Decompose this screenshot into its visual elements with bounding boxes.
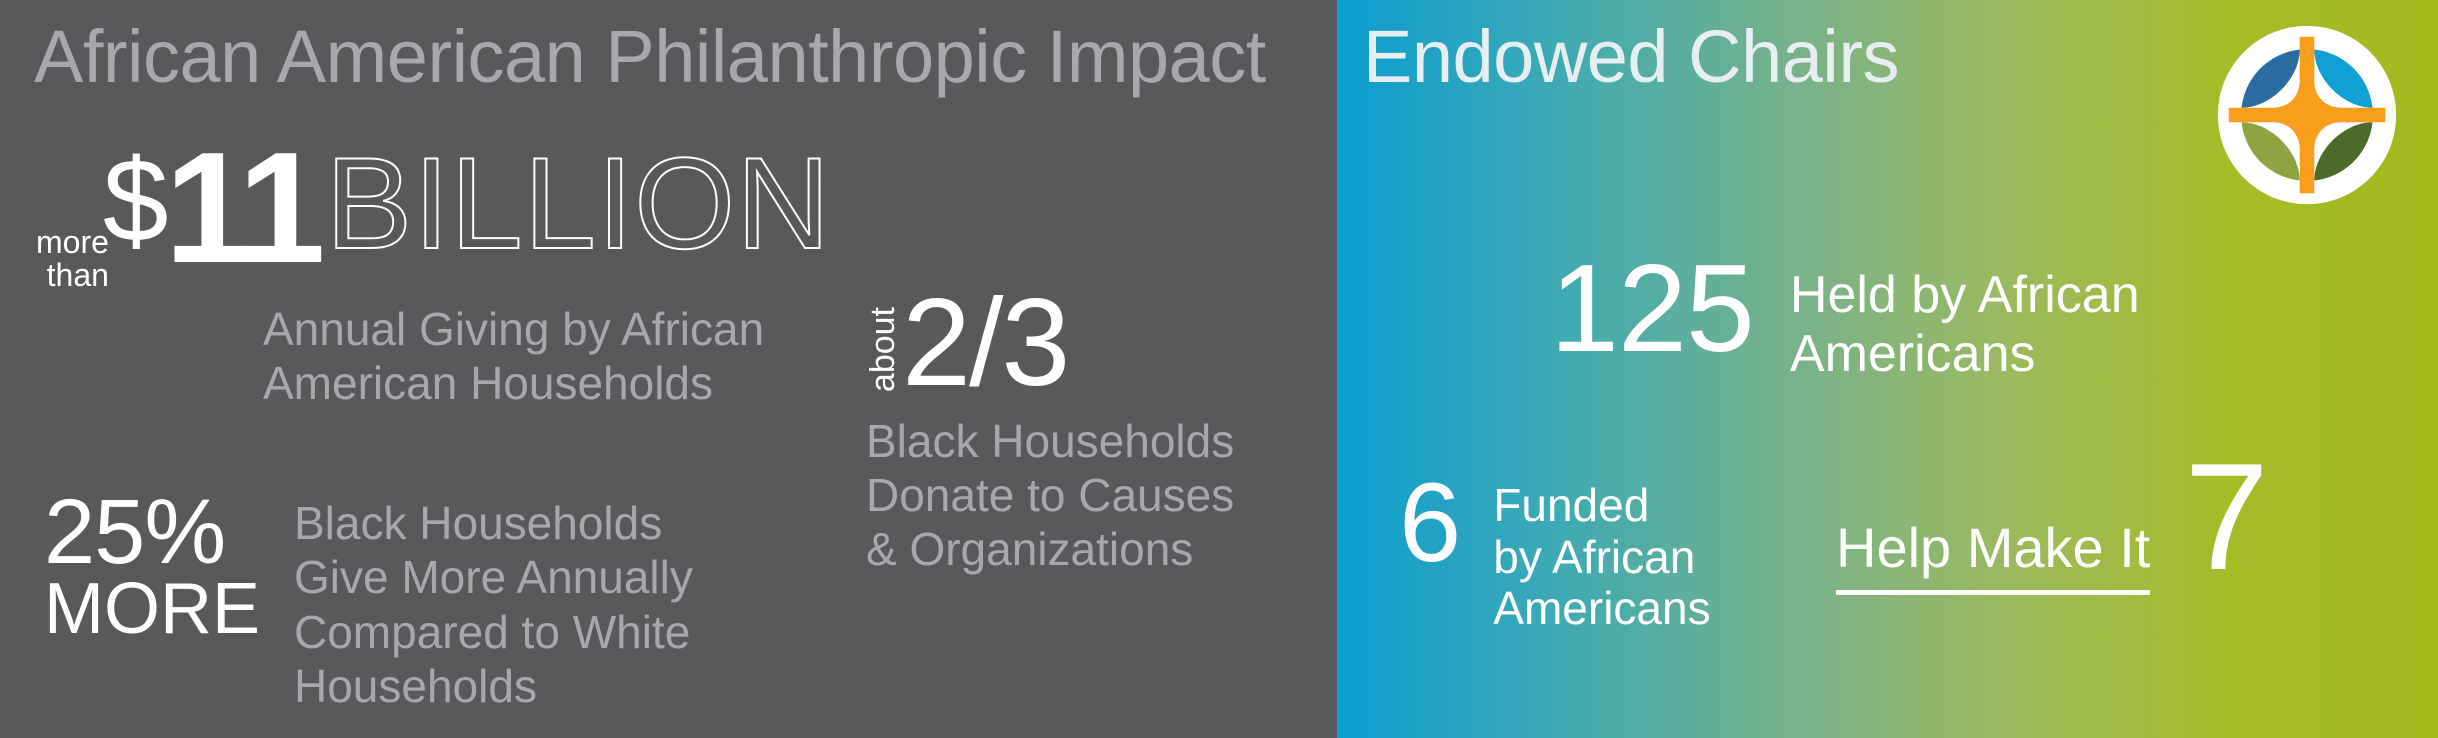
fraction-qualifier: about bbox=[866, 307, 900, 392]
right-panel-title: Endowed Chairs bbox=[1363, 14, 1899, 99]
percent-value-group: 25% MORE bbox=[44, 490, 260, 643]
billion-number: 11 bbox=[165, 144, 320, 274]
billion-description-line-1: Annual Giving by African bbox=[263, 302, 764, 356]
more-than-label: more than bbox=[36, 152, 109, 291]
percent-description: Black Households Give More Annually Comp… bbox=[294, 490, 693, 713]
stat-billion: more than $ 11 BILLION bbox=[36, 152, 831, 291]
than-label: than bbox=[36, 259, 109, 292]
funded-label: Funded by African Americans bbox=[1493, 470, 1710, 635]
currency-symbol: $ bbox=[103, 142, 169, 260]
funded-label-line-2: by African bbox=[1493, 532, 1710, 584]
fraction-value: 2/3 bbox=[902, 288, 1068, 400]
target-value: 7 bbox=[2184, 458, 2269, 577]
help-make-it-link[interactable]: Help Make It bbox=[1836, 520, 2150, 595]
more-label: more bbox=[36, 226, 109, 259]
infographic-root: African American Philanthropic Impact mo… bbox=[0, 0, 2438, 738]
held-value: 125 bbox=[1550, 252, 1754, 366]
stat-fraction: about 2/3 Black Households Donate to Cau… bbox=[866, 288, 1234, 576]
held-label: Held by African Americans bbox=[1790, 252, 2140, 384]
fraction-description-line-1: Black Households bbox=[866, 414, 1234, 468]
percent-description-line-2: Give More Annually bbox=[294, 550, 693, 604]
billion-scale-word: BILLION bbox=[326, 148, 832, 260]
percent-description-line-3: Compared to White bbox=[294, 605, 693, 659]
held-label-line-1: Held by African bbox=[1790, 266, 2140, 325]
call-to-action: Help Make It 7 bbox=[1836, 492, 2269, 595]
fraction-description: Black Households Donate to Causes & Orga… bbox=[866, 414, 1234, 577]
fraction-description-line-2: Donate to Causes bbox=[866, 468, 1234, 522]
fraction-description-line-3: & Organizations bbox=[866, 522, 1234, 576]
fraction-value-group: about 2/3 bbox=[866, 288, 1234, 400]
stat-percent: 25% MORE Black Households Give More Annu… bbox=[44, 490, 693, 713]
stat-funded-by: 6 Funded by African Americans bbox=[1399, 470, 1711, 635]
percent-description-line-4: Households bbox=[294, 659, 693, 713]
funded-label-line-3: Americans bbox=[1493, 583, 1710, 635]
billion-description: Annual Giving by African American Househ… bbox=[263, 302, 764, 411]
held-label-line-2: Americans bbox=[1790, 325, 2140, 384]
percent-value: 25% bbox=[44, 490, 260, 576]
stat-held-by: 125 Held by African Americans bbox=[1550, 252, 2140, 384]
funded-value: 6 bbox=[1399, 470, 1461, 576]
funded-label-line-1: Funded bbox=[1493, 480, 1710, 532]
percent-description-line-1: Black Households bbox=[294, 496, 693, 550]
left-panel: African American Philanthropic Impact mo… bbox=[0, 0, 1337, 738]
left-panel-title: African American Philanthropic Impact bbox=[34, 14, 1266, 99]
billion-description-line-2: American Households bbox=[263, 356, 764, 410]
circular-quadrant-logo-icon bbox=[2216, 24, 2398, 206]
percent-qualifier: MORE bbox=[44, 576, 260, 643]
